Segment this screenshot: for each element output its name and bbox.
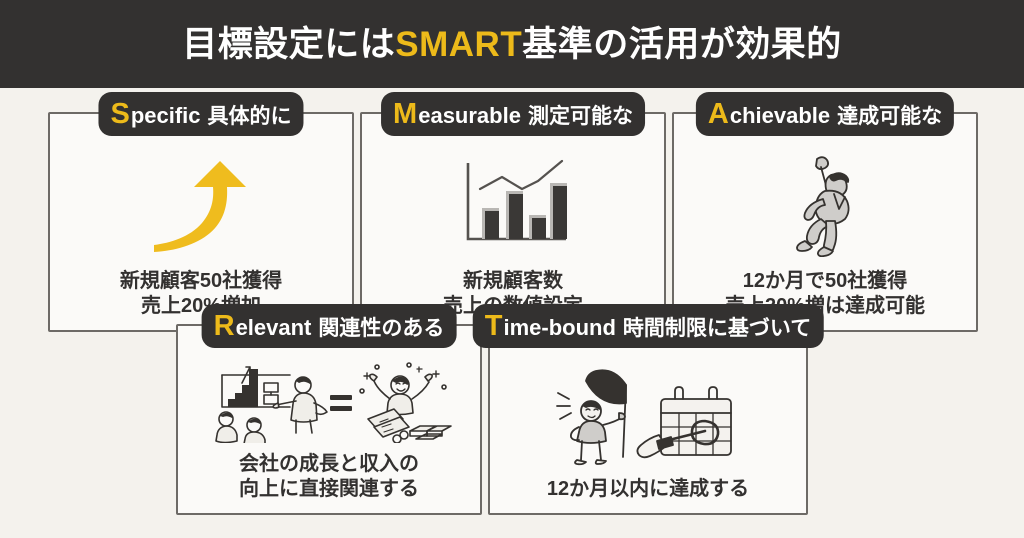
card-relevant-caption-line-2: 向上に直接関連する bbox=[239, 477, 419, 501]
page-title-bar: 目標設定にはSMART基準の活用が効果的 bbox=[0, 0, 1024, 88]
card-achievable-icon-area bbox=[674, 140, 976, 269]
celebrating-businessman-icon bbox=[777, 153, 873, 257]
card-specific-initial: S bbox=[110, 100, 129, 129]
card-timebound-jp-label: 時間制限に基づいて bbox=[623, 318, 811, 339]
card-measurable[interactable]: Measurable測定可能な bbox=[360, 112, 666, 332]
card-achievable[interactable]: Achievable達成可能な bbox=[672, 112, 978, 332]
card-timebound-word: ime-bound bbox=[503, 317, 615, 339]
card-specific-word: pecific bbox=[131, 105, 201, 127]
card-timebound-icon-area bbox=[490, 352, 806, 477]
card-timebound-caption-line-1: 12か月以内に達成する bbox=[547, 477, 749, 501]
card-relevant-caption-line-1: 会社の成長と収入の bbox=[239, 452, 419, 476]
card-relevant-jp-label: 関連性のある bbox=[318, 318, 444, 339]
card-relevant-caption: 会社の成長と収入の 向上に直接関連する bbox=[239, 452, 419, 513]
card-specific-header: Specific具体的に bbox=[98, 92, 303, 136]
page-title: 目標設定にはSMART基準の活用が効果的 bbox=[182, 27, 841, 62]
page-title-prefix: 目標設定には bbox=[182, 25, 395, 64]
card-measurable-caption-line-1: 新規顧客数 bbox=[443, 269, 583, 293]
card-measurable-initial: M bbox=[393, 100, 417, 129]
flag-person-with-calendar-icon bbox=[553, 361, 743, 467]
page-title-suffix: 基準の活用が効果的 bbox=[522, 25, 842, 64]
smart-criteria-board: Specific具体的に 新規顧客50社獲得 売上20%増加 Measurabl… bbox=[0, 88, 1024, 538]
card-specific-icon-area bbox=[50, 140, 352, 269]
bar-chart-with-trend-line-icon bbox=[454, 159, 572, 251]
card-relevant-icon-area bbox=[178, 352, 480, 452]
card-relevant[interactable]: Relevant関連性のある bbox=[176, 324, 482, 515]
card-timebound-initial: T bbox=[485, 312, 503, 341]
card-timebound-caption: 12か月以内に達成する bbox=[547, 477, 749, 513]
upward-curved-arrow-icon bbox=[146, 157, 256, 253]
card-timebound-header: Time-bound時間制限に基づいて bbox=[473, 304, 824, 348]
card-achievable-word: chievable bbox=[730, 105, 830, 127]
page-title-accent: SMART bbox=[395, 25, 522, 64]
card-measurable-icon-area bbox=[362, 140, 664, 269]
card-achievable-caption-line-1: 12か月で50社獲得 bbox=[725, 269, 925, 293]
equals-sign bbox=[330, 395, 352, 411]
card-achievable-header: Achievable達成可能な bbox=[696, 92, 954, 136]
card-relevant-initial: R bbox=[214, 312, 235, 341]
card-relevant-word: elevant bbox=[236, 317, 312, 339]
card-measurable-header: Measurable測定可能な bbox=[381, 92, 645, 136]
card-measurable-word: easurable bbox=[418, 105, 521, 127]
card-timebound[interactable]: Time-bound時間制限に基づいて bbox=[488, 324, 808, 515]
card-specific-caption-line-1: 新規顧客50社獲得 bbox=[120, 269, 282, 293]
card-measurable-jp-label: 測定可能な bbox=[528, 106, 633, 127]
card-achievable-initial: A bbox=[708, 100, 729, 129]
card-relevant-header: Relevant関連性のある bbox=[202, 304, 457, 348]
card-specific-jp-label: 具体的に bbox=[208, 106, 292, 127]
card-achievable-jp-label: 達成可能な bbox=[837, 106, 942, 127]
card-specific[interactable]: Specific具体的に 新規顧客50社獲得 売上20%増加 bbox=[48, 112, 354, 332]
presentation-equals-profit-icon bbox=[204, 361, 454, 443]
